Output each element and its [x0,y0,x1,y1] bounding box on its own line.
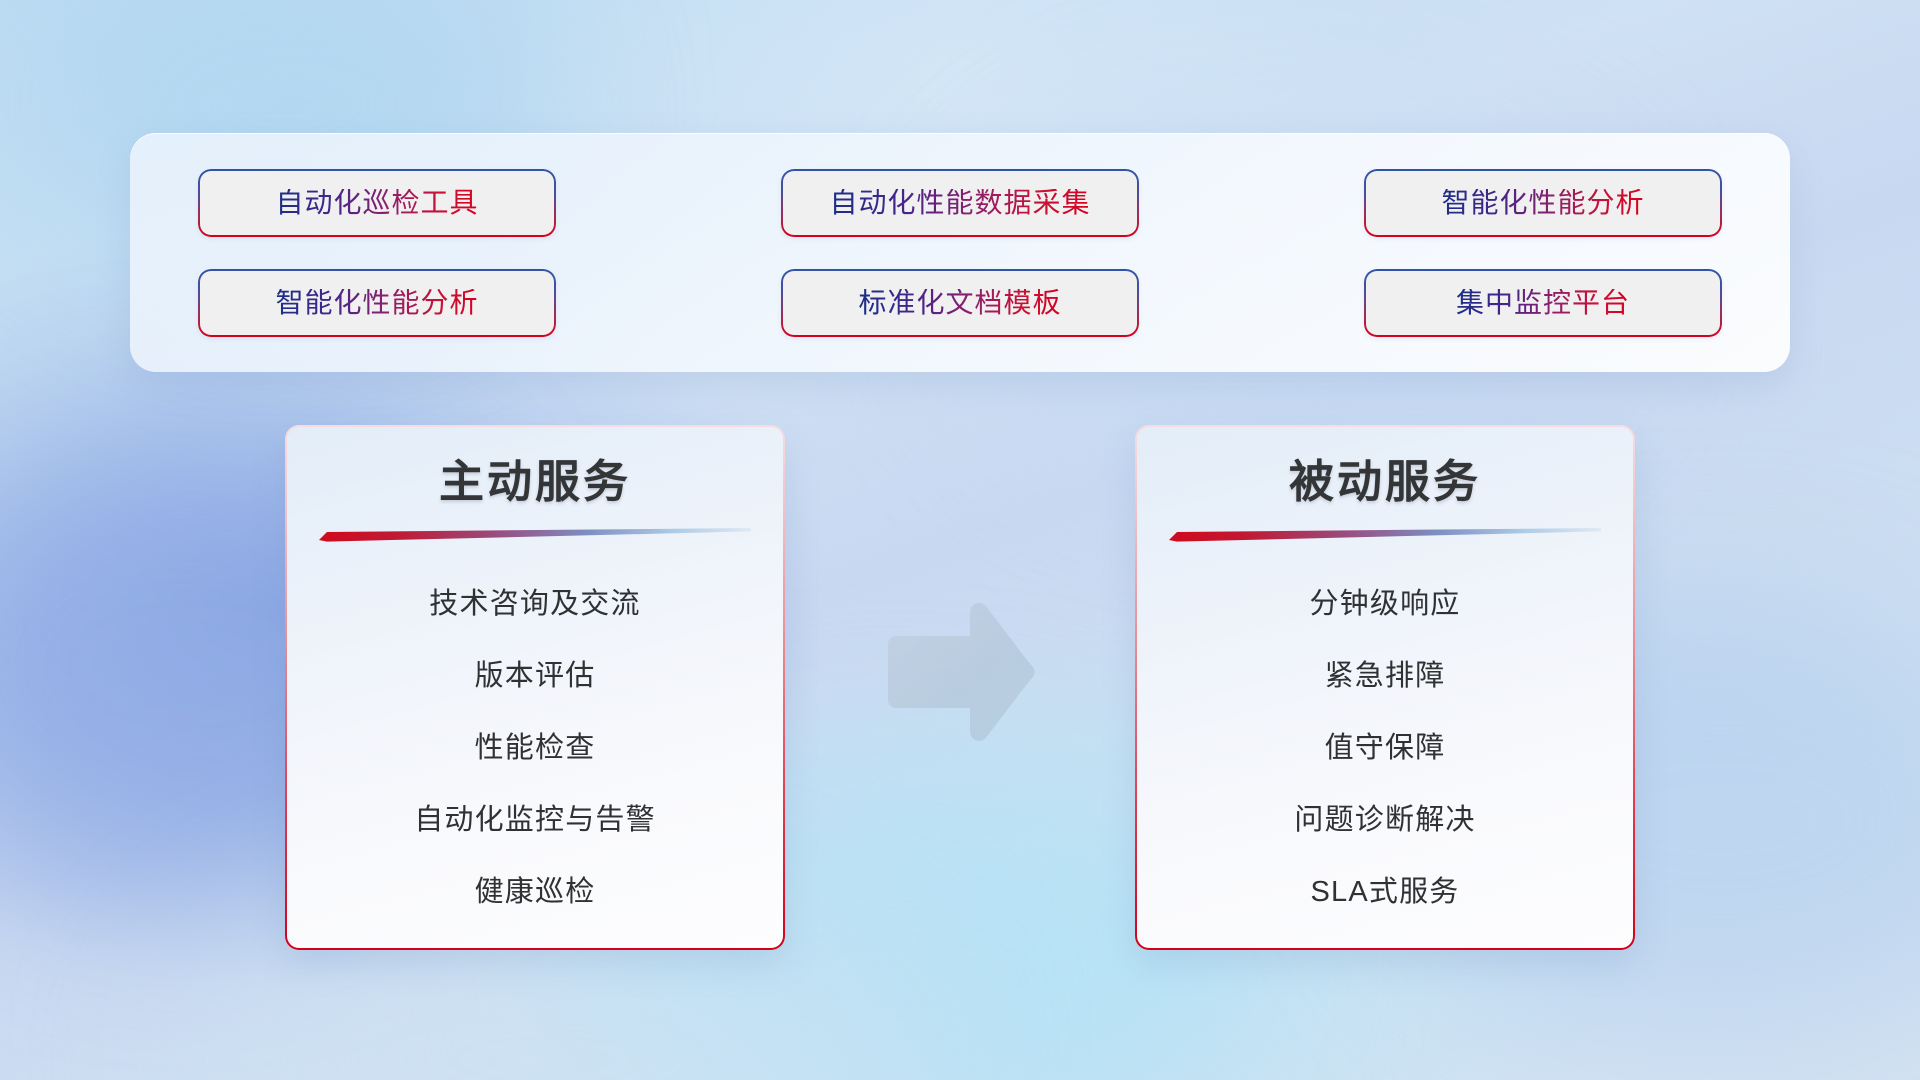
list-item: 分钟级响应 [1309,568,1460,640]
card-divider [1169,528,1601,542]
capability-pill-perf-data-collection[interactable]: 自动化性能数据采集 [781,169,1139,237]
capability-pill-smart-perf-analysis-2[interactable]: 智能化性能分析 [198,269,556,337]
list-item: 版本评估 [475,640,596,712]
list-item: 自动化监控与告警 [414,784,656,856]
capability-pill-label: 自动化巡检工具 [275,189,478,217]
service-card-title: 被动服务 [1289,455,1481,508]
list-item: 紧急排障 [1325,640,1446,712]
service-card-reactive: 被动服务 [1135,425,1635,950]
capability-row-2: 智能化性能分析 标准化文档模板 集中监控平台 [198,269,1722,337]
card-divider [319,528,751,542]
list-item: 值守保障 [1325,712,1446,784]
capability-pill-label: 智能化性能分析 [275,289,478,317]
service-card-body: 主动服务 [287,427,783,948]
capability-row-1: 自动化巡检工具 自动化性能数据采集 智能化性能分析 [198,169,1722,237]
capability-pill-central-monitoring[interactable]: 集中监控平台 [1364,269,1722,337]
capability-pill-label: 集中监控平台 [1456,289,1630,317]
list-item: 技术咨询及交流 [429,568,640,640]
slide-canvas: 自动化巡检工具 自动化性能数据采集 智能化性能分析 智能化性能分析 标准化文档模… [0,0,1920,1080]
service-item-list: 分钟级响应 紧急排障 值守保障 问题诊断解决 SLA式服务 [1137,568,1633,928]
service-item-list: 技术咨询及交流 版本评估 性能检查 自动化监控与告警 健康巡检 [287,568,783,928]
list-item: 性能检查 [475,712,596,784]
capability-pill-label: 标准化文档模板 [858,289,1061,317]
capability-pill-label: 自动化性能数据采集 [829,189,1090,217]
capability-tool-panel: 自动化巡检工具 自动化性能数据采集 智能化性能分析 智能化性能分析 标准化文档模… [130,133,1790,372]
right-arrow-icon [882,598,1038,746]
service-card-body: 被动服务 [1137,427,1633,948]
service-card-title: 主动服务 [439,455,631,508]
list-item: 问题诊断解决 [1294,784,1475,856]
list-item: 健康巡检 [475,856,596,928]
capability-pill-doc-template[interactable]: 标准化文档模板 [781,269,1139,337]
capability-pill-smart-perf-analysis[interactable]: 智能化性能分析 [1364,169,1722,237]
service-card-proactive: 主动服务 [285,425,785,950]
capability-pill-label: 智能化性能分析 [1441,189,1644,217]
list-item: SLA式服务 [1310,856,1459,928]
capability-pill-inspection-tool[interactable]: 自动化巡检工具 [198,169,556,237]
